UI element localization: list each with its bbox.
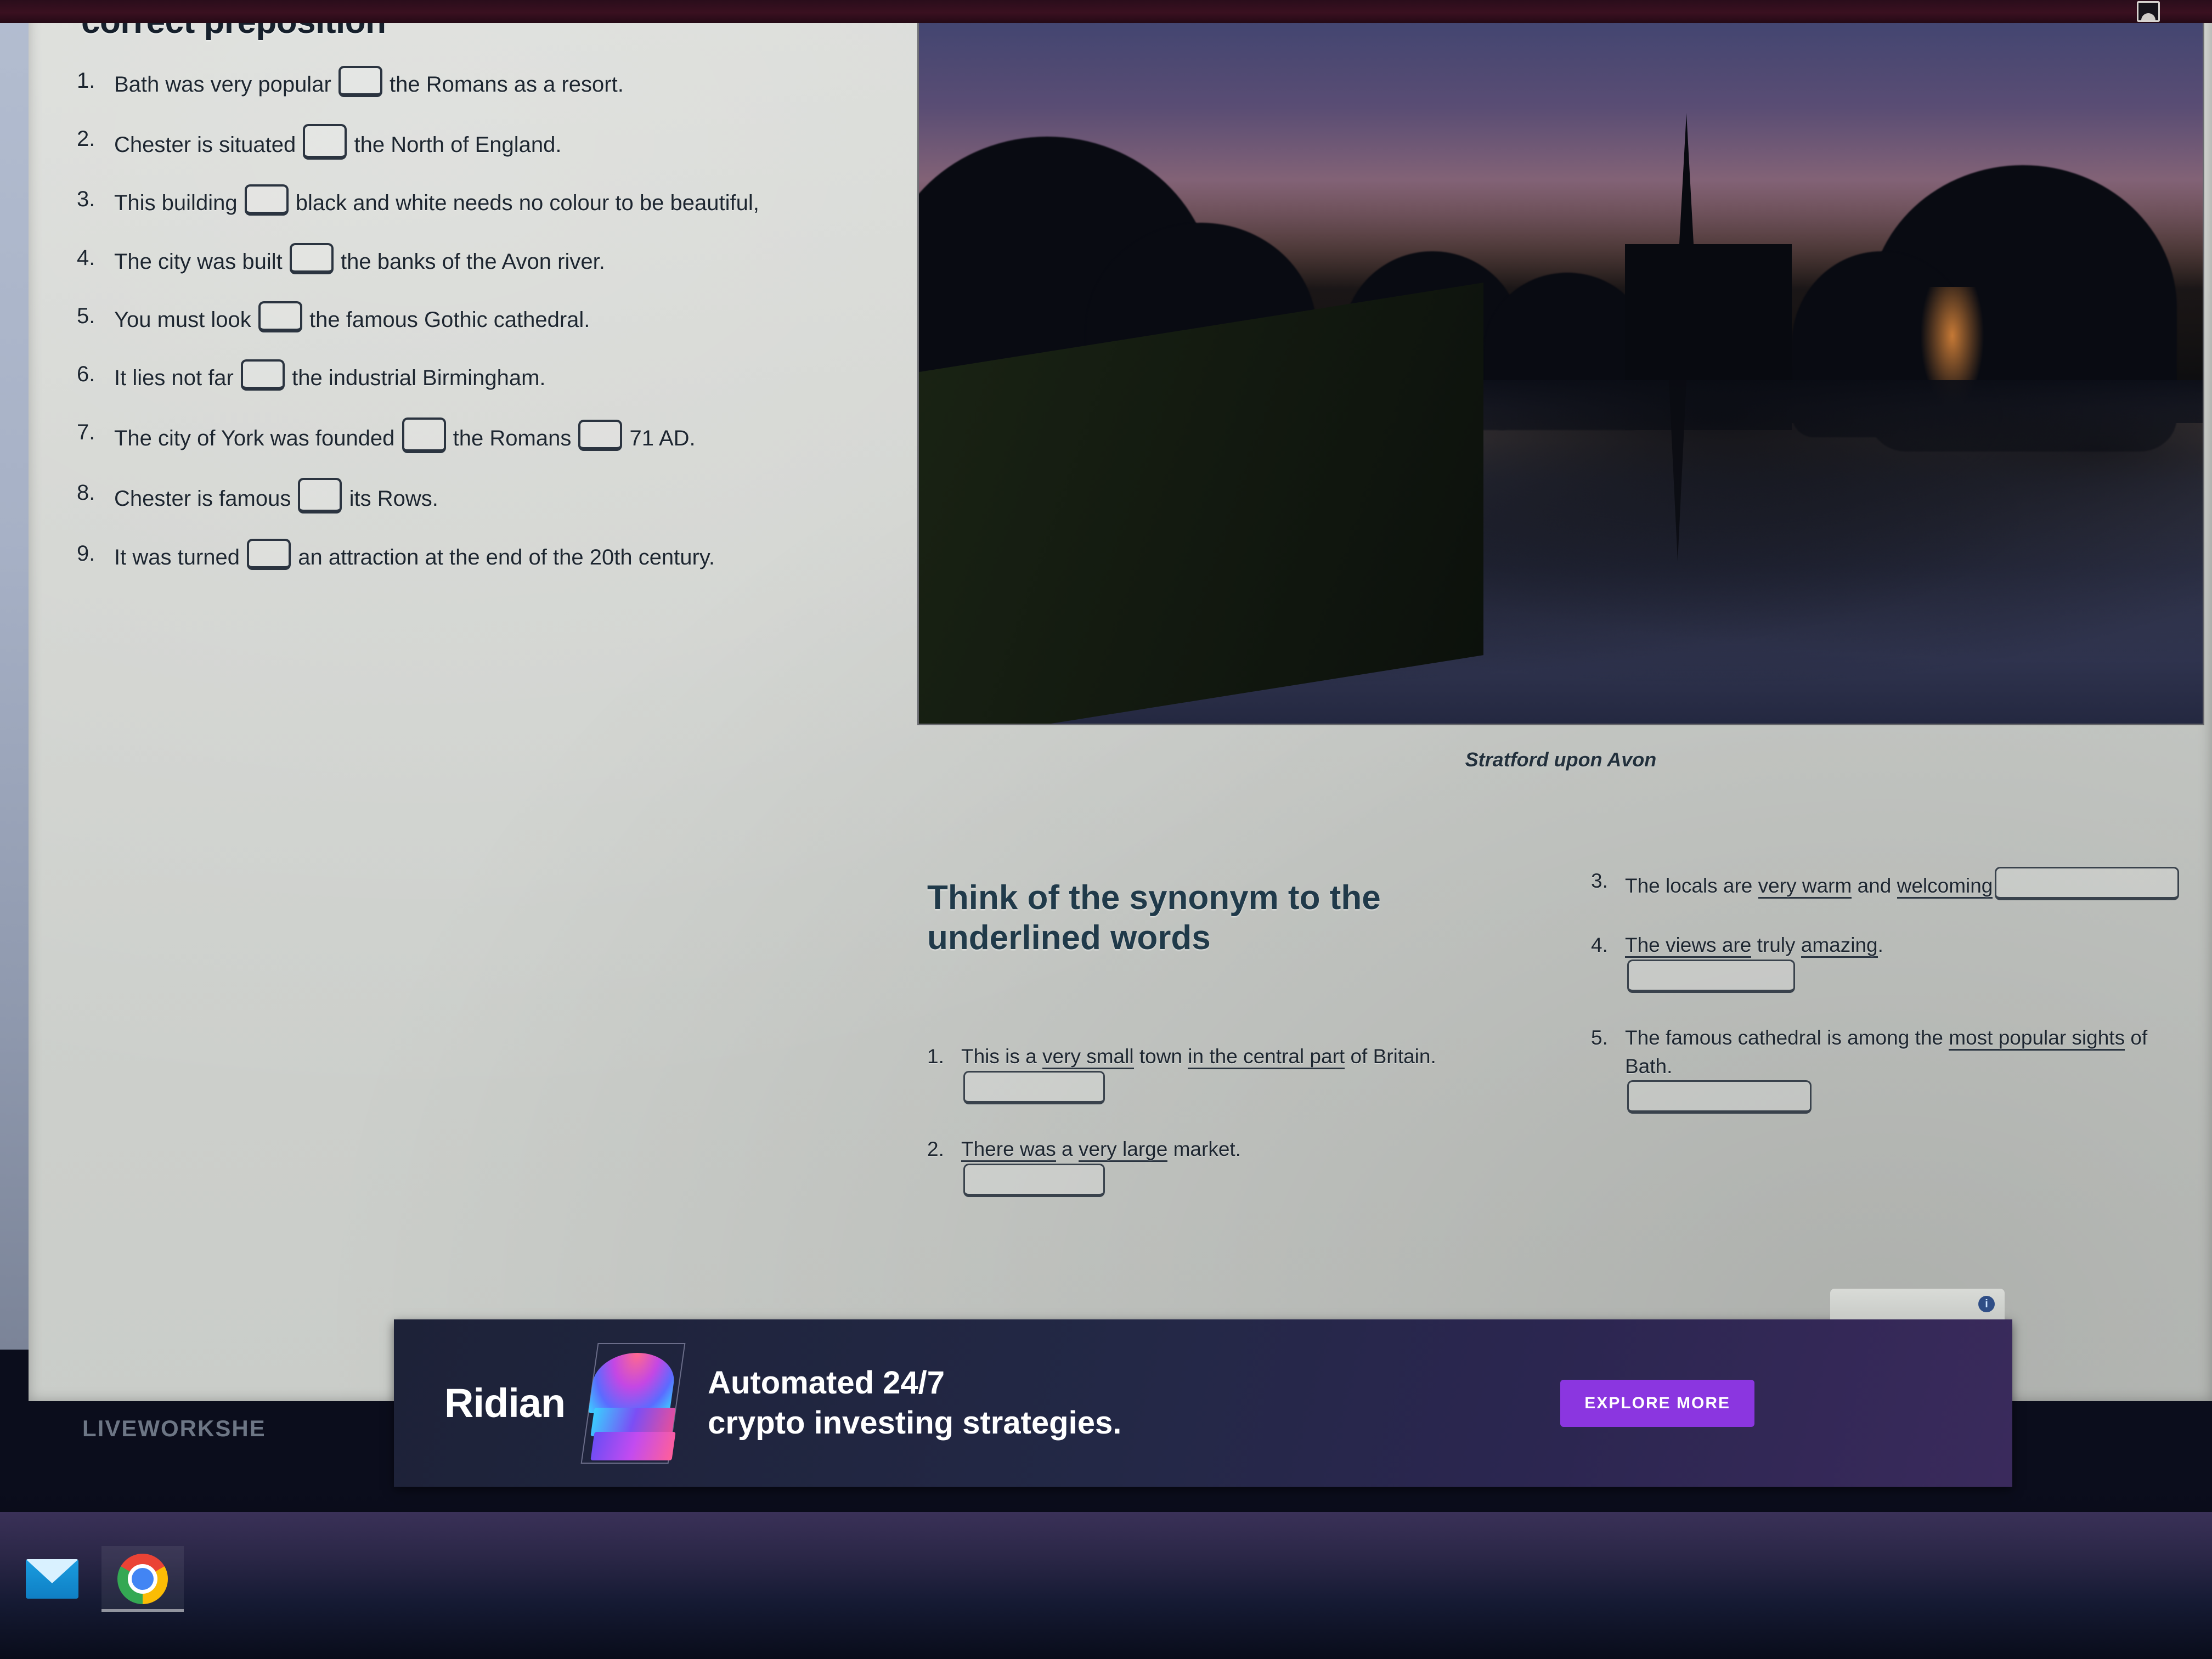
question-text: This building [114, 191, 244, 215]
window-control-icon[interactable] [2137, 1, 2160, 22]
synonym-middle-column: 1. This is a very small town in the cent… [927, 1042, 1542, 1228]
ad-headline-line1: Automated 24/7 [708, 1363, 1121, 1403]
question-number: 7. [77, 417, 114, 454]
underlined-word: very small [1042, 1045, 1134, 1069]
synonym-item: 4. The views are truly amazing. [1591, 931, 2194, 993]
synonym-heading: Think of the synonym to the underlined w… [927, 878, 1525, 958]
page-gutter [0, 0, 33, 1350]
synonym-input[interactable] [1995, 867, 2179, 900]
question-body: This building black and white needs no c… [114, 184, 894, 218]
underlined-word: The views are [1625, 934, 1751, 958]
question-text: the industrial Birmingham. [286, 366, 546, 390]
photo-caption: Stratford upon Avon [919, 748, 2203, 771]
question-body: The locals are very warm and welcoming [1625, 867, 2194, 900]
question-text: Chester is situated [114, 133, 302, 157]
question-text: This is a [961, 1045, 1042, 1068]
question-text: Bath was very popular [114, 72, 337, 97]
question-number: 2. [77, 124, 114, 160]
question-number: 1. [927, 1042, 961, 1104]
question-text: and [1852, 874, 1897, 897]
question-text: market. [1167, 1138, 1241, 1160]
question-body: It lies not far the industrial Birmingha… [114, 359, 894, 393]
taskbar-item-mail[interactable] [11, 1546, 93, 1612]
answer-blank[interactable] [247, 539, 291, 570]
ad-choices-badge[interactable]: i [1830, 1289, 2005, 1319]
synonym-input[interactable] [1627, 1080, 1812, 1114]
question-text: its Rows. [343, 487, 438, 511]
question-item: 5. You must look the famous Gothic cathe… [77, 301, 894, 335]
question-text: It was turned [114, 545, 246, 569]
question-text: the banks of the Avon river. [335, 250, 605, 274]
liveworksheets-watermark: LIVEWORKSHE [82, 1415, 266, 1442]
question-text: You must look [114, 308, 257, 332]
question-body: There was a very large market. [961, 1135, 1542, 1197]
question-item: 2. Chester is situated the North of Engl… [77, 124, 894, 160]
synonym-item: 2. There was a very large market. [927, 1135, 1542, 1197]
question-body: It was turned an attraction at the end o… [114, 539, 894, 573]
underlined-word: most popular sights [1949, 1026, 2125, 1051]
question-body: The city was built the banks of the Avon… [114, 243, 894, 277]
question-text: 71 AD. [623, 426, 695, 450]
question-text: The city of York was founded [114, 426, 401, 450]
taskbar-item-chrome[interactable] [101, 1546, 184, 1612]
synonym-input[interactable] [963, 1071, 1105, 1104]
ad-brand-logo: Ridian [444, 1380, 565, 1426]
answer-blank[interactable] [402, 417, 446, 453]
question-item: 9. It was turned an attraction at the en… [77, 539, 894, 573]
question-number: 4. [1591, 931, 1625, 993]
question-number: 8. [77, 478, 114, 514]
question-body: You must look the famous Gothic cathedra… [114, 301, 894, 335]
answer-blank[interactable] [258, 301, 302, 332]
answer-blank[interactable] [303, 124, 347, 160]
underlined-word: There was [961, 1138, 1056, 1162]
question-text: Chester is famous [114, 487, 297, 511]
ad-graphic-icon [589, 1343, 677, 1464]
question-item: 1. Bath was very popular the Romans as a… [77, 66, 894, 100]
synonym-right-column: 3. The locals are very warm and welcomin… [1591, 867, 2194, 1144]
answer-blank[interactable] [298, 478, 342, 513]
ad-copy: Automated 24/7 crypto investing strategi… [708, 1363, 1121, 1443]
question-number: 2. [927, 1135, 961, 1197]
answer-blank[interactable] [241, 359, 285, 391]
question-text: truly [1751, 934, 1801, 956]
question-body: Chester is situated the North of England… [114, 124, 894, 160]
question-text: of Britain. [1345, 1045, 1436, 1068]
question-text: black and white needs no colour to be be… [290, 191, 759, 215]
question-text: a [1056, 1138, 1079, 1160]
answer-blank[interactable] [578, 420, 622, 451]
question-item: 7. The city of York was founded the Roma… [77, 417, 894, 454]
question-text: the North of England. [348, 133, 561, 157]
synonym-input[interactable] [1627, 960, 1795, 993]
question-body: The city of York was founded the Romans … [114, 417, 894, 454]
question-text: town [1134, 1045, 1188, 1068]
explore-more-button[interactable]: EXPLORE MORE [1560, 1380, 1754, 1427]
answer-blank[interactable] [245, 184, 289, 216]
question-number: 5. [77, 301, 114, 335]
question-body: The famous cathedral is among the most p… [1625, 1024, 2194, 1114]
photo-spire-reflection [1669, 380, 1686, 561]
question-item: 6. It lies not far the industrial Birmin… [77, 359, 894, 393]
chrome-icon[interactable] [117, 1554, 168, 1604]
synonym-input[interactable] [963, 1164, 1105, 1197]
preposition-section: correct preposition 1. Bath was very pop… [55, 0, 900, 1278]
photo-church-spire [1677, 113, 1696, 294]
question-number: 3. [77, 184, 114, 218]
underlined-word: very warm [1758, 874, 1852, 899]
answer-blank[interactable] [290, 243, 334, 274]
question-body: The views are truly amazing. [1625, 931, 2194, 993]
question-number: 4. [77, 243, 114, 277]
question-item: 3. This building black and white needs n… [77, 184, 894, 218]
stratford-photo [919, 8, 2203, 724]
question-number: 6. [77, 359, 114, 393]
question-text: The locals are [1625, 874, 1758, 897]
question-body: Chester is famous its Rows. [114, 478, 894, 514]
question-number: 1. [77, 66, 114, 100]
taskbar [0, 1512, 2212, 1659]
synonym-item: 1. This is a very small town in the cent… [927, 1042, 1542, 1104]
question-number: 9. [77, 539, 114, 573]
question-text: the famous Gothic cathedral. [303, 308, 590, 332]
preposition-question-list: 1. Bath was very popular the Romans as a… [77, 66, 894, 597]
browser-chrome-strip [0, 0, 2212, 23]
mail-icon[interactable] [26, 1559, 78, 1599]
question-text: The famous cathedral is among the [1625, 1026, 1949, 1049]
question-body: Bath was very popular the Romans as a re… [114, 66, 894, 100]
question-text: an attraction at the end of the 20th cen… [292, 545, 715, 569]
underlined-word: welcoming [1897, 874, 1993, 899]
desktop-screen: correct preposition 1. Bath was very pop… [0, 0, 2212, 1659]
underlined-word: very large [1079, 1138, 1167, 1162]
synonym-item: 3. The locals are very warm and welcomin… [1591, 867, 2194, 900]
question-text: . [1878, 934, 1883, 956]
info-icon[interactable]: i [1978, 1296, 1995, 1312]
synonym-item: 5. The famous cathedral is among the mos… [1591, 1024, 2194, 1114]
underlined-word: amazing [1801, 934, 1878, 958]
question-item: 4. The city was built the banks of the A… [77, 243, 894, 277]
question-number: 5. [1591, 1024, 1625, 1114]
question-text: It lies not far [114, 366, 240, 390]
ad-banner[interactable]: i Ridian Automated 24/7 crypto investing… [394, 1319, 2012, 1487]
question-number: 3. [1591, 867, 1625, 900]
question-text: the Romans as a resort. [383, 72, 624, 97]
question-text: the Romans [447, 426, 578, 450]
underlined-word: in the central part [1188, 1045, 1345, 1069]
question-text: The city was built [114, 250, 289, 274]
question-item: 8. Chester is famous its Rows. [77, 478, 894, 514]
question-body: This is a very small town in the central… [961, 1042, 1542, 1104]
answer-blank[interactable] [338, 66, 382, 97]
ad-headline-line2: crypto investing strategies. [708, 1403, 1121, 1443]
desktop-shadow [0, 1490, 2212, 1512]
